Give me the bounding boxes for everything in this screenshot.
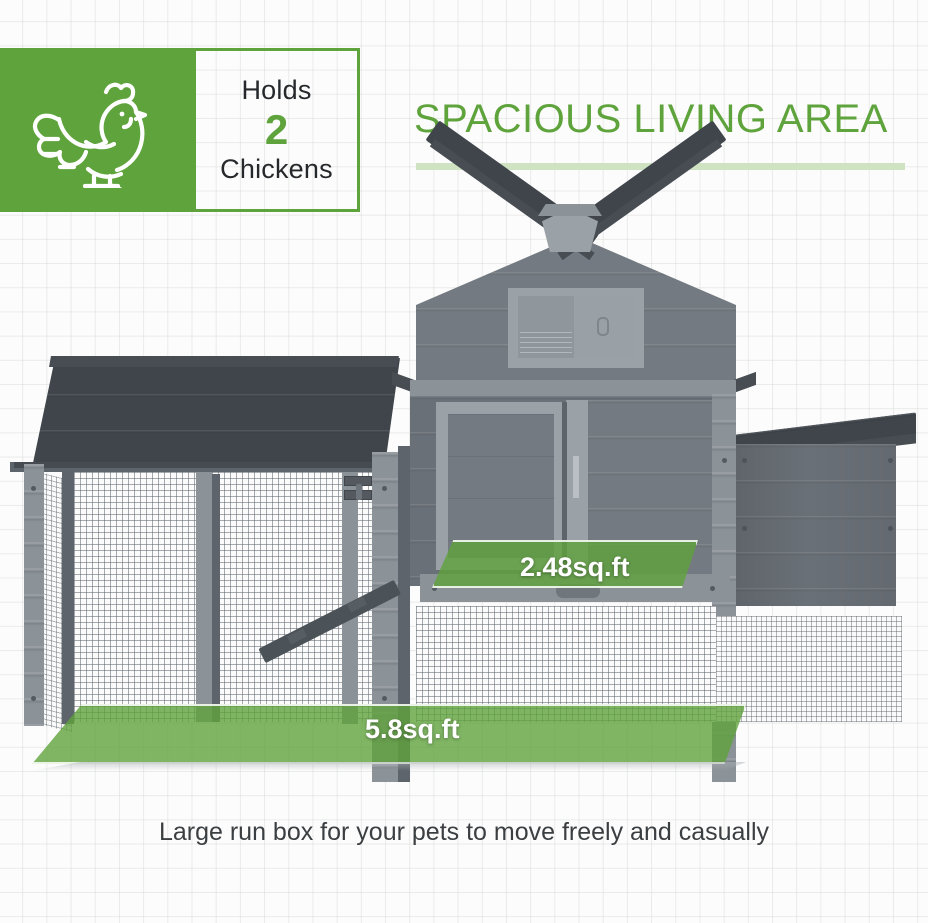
run-door-stile bbox=[212, 474, 220, 722]
marketing-image: Holds 2 Chickens SPACIOUS LIVING AREA bbox=[0, 0, 928, 923]
screw-icon bbox=[888, 458, 893, 463]
screw-icon bbox=[888, 526, 893, 531]
screw-icon bbox=[31, 486, 36, 491]
screw-icon bbox=[742, 526, 747, 531]
nest-box-shadow bbox=[736, 444, 896, 606]
capacity-count: 2 bbox=[265, 105, 288, 155]
screw-icon bbox=[31, 696, 36, 701]
run-post-center bbox=[196, 472, 212, 722]
capacity-badge: Holds 2 Chickens bbox=[0, 48, 360, 212]
roof-ridge-cap-top bbox=[538, 204, 602, 216]
caption-text: Large run box for your pets to move free… bbox=[0, 818, 928, 847]
coop-door-hinge-icon bbox=[573, 456, 579, 498]
page-title: SPACIOUS LIVING AREA bbox=[414, 97, 888, 142]
screw-icon bbox=[710, 586, 715, 591]
screw-icon bbox=[722, 458, 727, 463]
run-roof-slope bbox=[8, 358, 400, 470]
run-post-mid-left bbox=[62, 472, 74, 724]
coop-window-blind-lines bbox=[520, 332, 572, 354]
capacity-text-panel: Holds 2 Chickens bbox=[196, 48, 360, 212]
chicken-icon bbox=[32, 72, 164, 188]
ground-shadow bbox=[30, 762, 746, 771]
run-corner-post-left bbox=[24, 464, 44, 726]
chickens-label: Chickens bbox=[220, 155, 333, 184]
run-roof-underside bbox=[14, 462, 394, 468]
chicken-icon-panel bbox=[0, 48, 196, 212]
upper-area-label: 2.48sq.ft bbox=[520, 552, 630, 583]
screw-icon bbox=[742, 458, 747, 463]
screw-icon bbox=[382, 696, 387, 701]
product-photo: 2.48sq.ft 5.8sq.ft bbox=[0, 196, 928, 796]
door-latch-icon bbox=[356, 484, 362, 500]
holds-label: Holds bbox=[241, 76, 311, 105]
run-roof-top-fascia bbox=[49, 356, 399, 367]
screw-icon bbox=[382, 486, 387, 491]
lower-area-label: 5.8sq.ft bbox=[365, 714, 460, 745]
coop-door-left-panel-lines bbox=[448, 414, 554, 558]
coop-window-latch-icon bbox=[597, 317, 609, 336]
